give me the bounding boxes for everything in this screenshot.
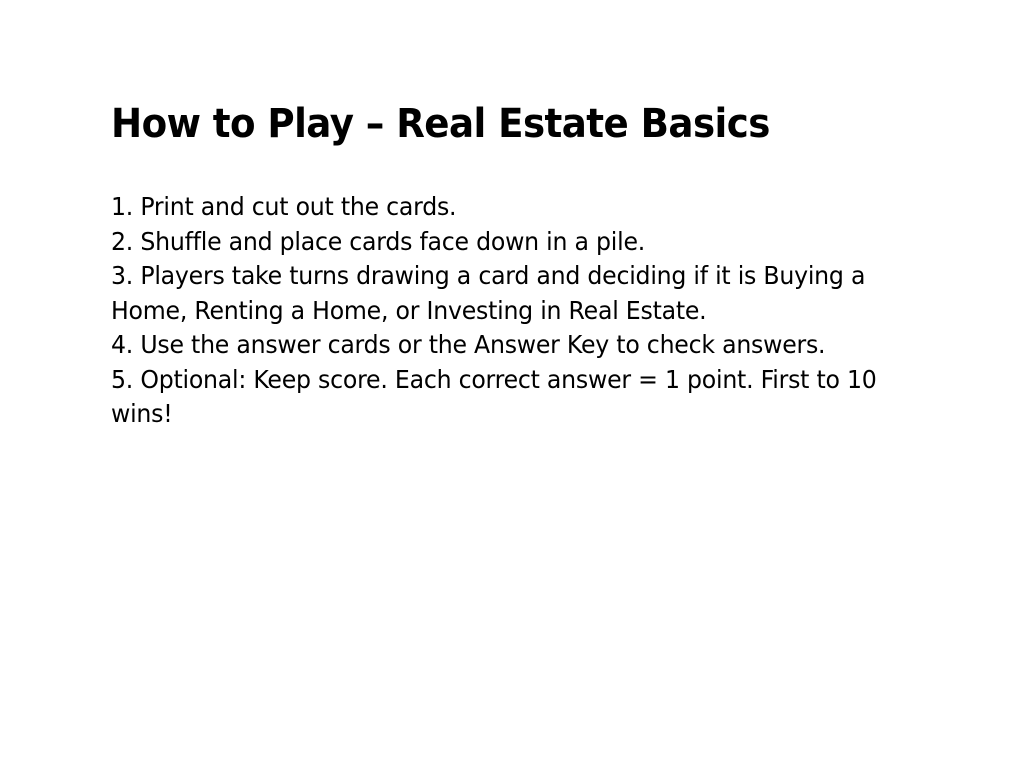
list-item: 3. Players take turns drawing a card and… xyxy=(111,259,886,328)
content-block: How to Play – Real Estate Basics 1. Prin… xyxy=(111,100,931,432)
instructions-list: 1. Print and cut out the cards. 2. Shuff… xyxy=(111,190,931,432)
slide-canvas: How to Play – Real Estate Basics 1. Prin… xyxy=(0,0,1024,768)
list-item: 1. Print and cut out the cards. xyxy=(111,190,886,225)
list-item: 4. Use the answer cards or the Answer Ke… xyxy=(111,328,886,363)
list-item: 5. Optional: Keep score. Each correct an… xyxy=(111,363,886,432)
page-title: How to Play – Real Estate Basics xyxy=(111,100,874,148)
list-item: 2. Shuffle and place cards face down in … xyxy=(111,225,886,260)
